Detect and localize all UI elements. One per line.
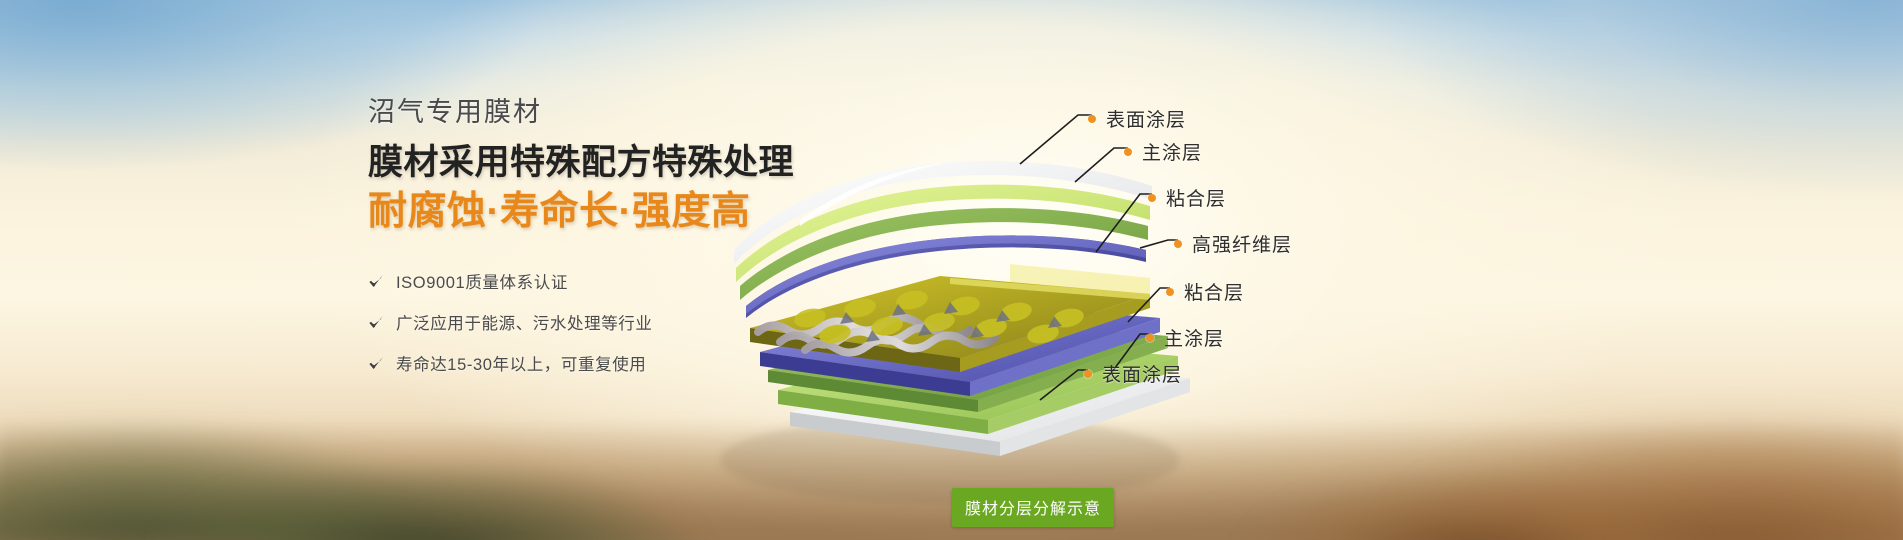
callout-dot-icon — [1084, 370, 1092, 378]
callout-dot-icon — [1174, 240, 1182, 248]
callout-label: 高强纤维层 — [1192, 230, 1292, 257]
hill-left-secondary — [120, 400, 740, 540]
status-badge: 膜材分层分解示意 — [952, 488, 1114, 527]
list-item-label: 寿命达15-30年以上，可重复使用 — [396, 351, 646, 375]
callout-dot-icon — [1146, 334, 1154, 342]
callout-adhesive-top: 粘合层 — [1148, 184, 1226, 211]
callout-surface-coat-bottom: 表面涂层 — [1084, 360, 1182, 387]
callout-label: 表面涂层 — [1106, 105, 1186, 132]
list-item-label: ISO9001质量体系认证 — [396, 269, 568, 293]
callout-surface-coat-top: 表面涂层 — [1088, 105, 1186, 132]
callout-label: 主涂层 — [1164, 324, 1224, 351]
callout-label: 主涂层 — [1142, 138, 1202, 165]
callout-dot-icon — [1088, 115, 1096, 123]
callout-adhesive-bottom: 粘合层 — [1166, 278, 1244, 305]
check-icon — [368, 314, 385, 331]
check-icon — [368, 355, 385, 372]
callout-label: 粘合层 — [1184, 278, 1244, 305]
callout-label: 表面涂层 — [1102, 360, 1182, 387]
list-item-label: 广泛应用于能源、污水处理等行业 — [396, 310, 653, 334]
layer-top-main-coat — [736, 185, 1150, 282]
callout-dot-icon — [1148, 194, 1156, 202]
callout-dot-icon — [1124, 148, 1132, 156]
callout-main-coat-top: 主涂层 — [1124, 138, 1202, 165]
hero-banner: 沼气专用膜材 膜材采用特殊配方特殊处理 耐腐蚀·寿命长·强度高 ISO9001质… — [0, 0, 1903, 540]
callout-label: 粘合层 — [1166, 184, 1226, 211]
check-icon — [368, 273, 385, 290]
callout-fiber-core: 高强纤维层 — [1174, 230, 1292, 257]
callout-dot-icon — [1166, 288, 1174, 296]
hill-right-secondary — [1213, 416, 1733, 540]
callout-main-coat-bottom: 主涂层 — [1146, 324, 1224, 351]
